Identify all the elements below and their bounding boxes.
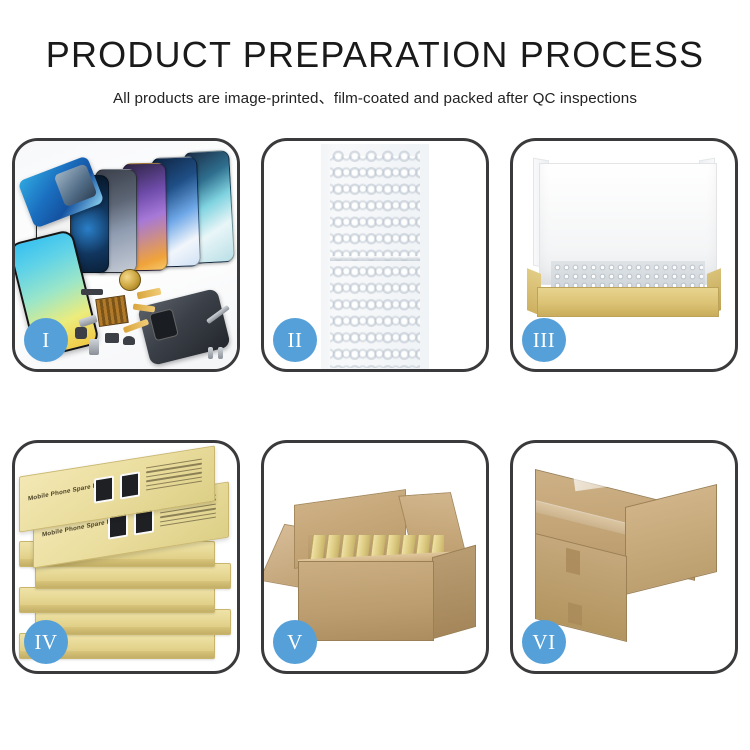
carton-side-panel [432,545,476,640]
header: PRODUCT PREPARATION PROCESS All products… [0,34,750,108]
page-title: PRODUCT PREPARATION PROCESS [0,34,750,75]
box-front-panel [537,287,719,317]
chip-grid-icon [95,295,129,327]
page-subtitle: All products are image-printed、film-coat… [0,86,750,108]
process-step-panel-6: VI [510,440,738,674]
tape-tab [566,548,580,575]
bubble-pattern-offset [330,156,420,368]
box-spec-lines [146,459,202,494]
step-badge: VI [522,620,566,664]
phone-thumbnail-icon [120,471,140,499]
screw-icon [218,347,223,359]
process-step-panel-4: Mobile Phone Spare Parts Mobile Phone Sp… [12,440,240,674]
spare-part-icon [89,339,99,355]
process-step-grid: I II [12,138,738,674]
step-badge: I [24,318,68,362]
process-step-panel-2: II [261,138,489,372]
spare-part-icon [105,333,119,343]
process-step-panel-5: V [261,440,489,674]
spare-part-icon [123,336,135,345]
phone-thumbnail-icon [94,475,114,503]
process-step-panel-1: I [12,138,240,372]
tape-tab [568,602,582,625]
process-step-panel-3: III [510,138,738,372]
step-badge: II [273,318,317,362]
product-preparation-infographic: PRODUCT PREPARATION PROCESS All products… [0,0,750,750]
step-badge: IV [24,620,68,664]
retail-box [19,587,215,613]
carton-front-panel [298,561,434,641]
pouch-seam [330,256,420,261]
spare-part-icon [81,289,103,295]
step-badge: V [273,620,317,664]
bubble-wrap-pouch [321,144,429,369]
step-badge: III [522,318,566,362]
speaker-coil-icon [119,269,141,291]
spare-part-icon [75,327,87,339]
screw-icon [208,347,213,359]
bubble-wrap-insert [553,263,703,288]
